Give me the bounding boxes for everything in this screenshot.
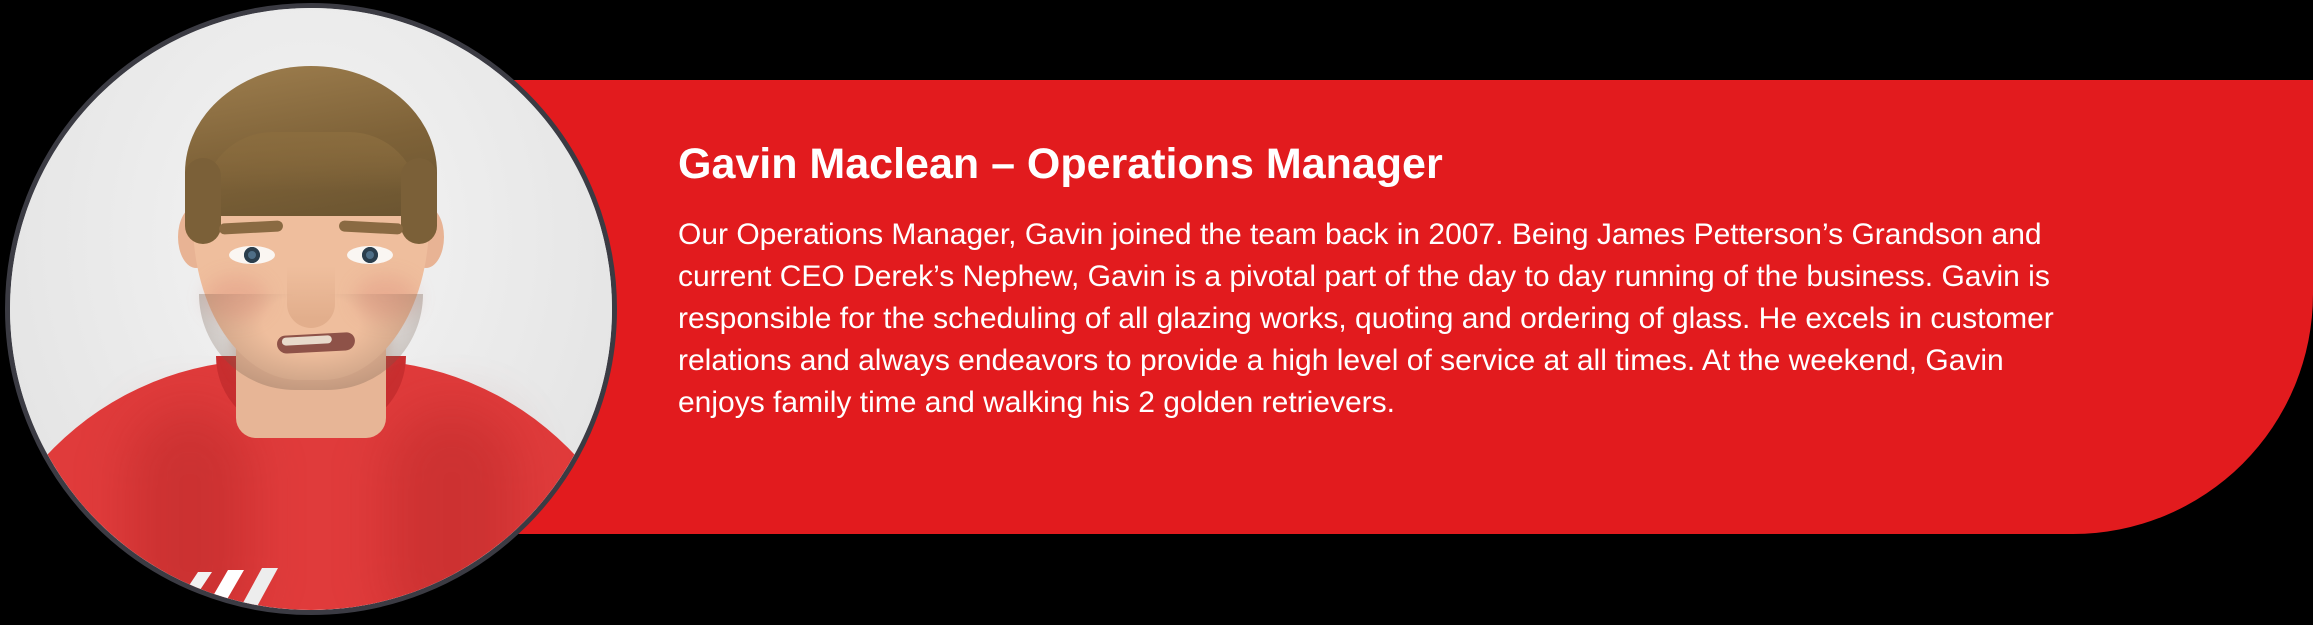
- avatar: [5, 3, 617, 615]
- profile-text-block: Gavin Maclean – Operations Manager Our O…: [678, 138, 2098, 424]
- hair: [185, 66, 437, 216]
- hair-side-left: [185, 158, 221, 244]
- eye-left: [229, 246, 275, 264]
- avatar-photo: [10, 8, 612, 610]
- profile-bio: Our Operations Manager, Gavin joined the…: [678, 214, 2098, 424]
- eye-right: [347, 246, 393, 264]
- teeth: [282, 335, 332, 346]
- hair-side-right: [401, 158, 437, 244]
- staff-profile-card: Gavin Maclean – Operations Manager Our O…: [0, 0, 2313, 625]
- cheek-right: [355, 276, 417, 320]
- cheek-left: [205, 276, 267, 320]
- shirt-shadow-right: [387, 408, 517, 615]
- page-title: Gavin Maclean – Operations Manager: [678, 138, 2098, 190]
- nose: [287, 266, 335, 328]
- company-chevron-logo-icon: [172, 556, 302, 615]
